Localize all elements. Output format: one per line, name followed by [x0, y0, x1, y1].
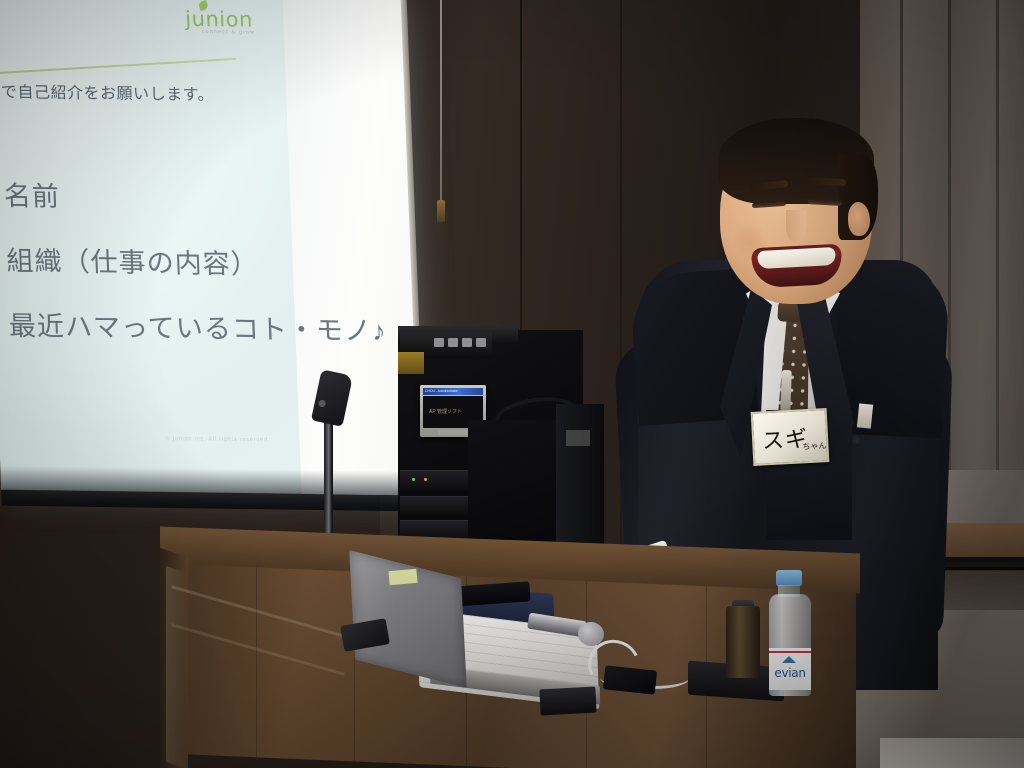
speaker-nose	[786, 210, 806, 242]
speaker-teeth	[757, 247, 836, 269]
rack-side-label	[566, 430, 590, 446]
slide-bullet-item: 組織（仕事の内容）	[6, 239, 348, 283]
slide-bullet-item: 名前	[3, 174, 345, 218]
speaker-ear	[848, 202, 870, 236]
label-red-line	[769, 651, 811, 653]
photo-canvas: junion connect & grow 介 ブ内で自己紹介をお願いします。 …	[0, 0, 1024, 768]
mountain-icon	[782, 656, 796, 663]
monitor-titlebar-text: CHOU - Administrator	[425, 388, 458, 395]
monitor-stand	[438, 430, 468, 435]
suit-button	[852, 436, 860, 444]
monitor-titlebar: CHOU - Administrator	[423, 388, 483, 395]
hanging-cord	[440, 0, 442, 205]
sticky-note	[388, 569, 417, 585]
name-badge-clip	[780, 370, 792, 414]
amp-button[interactable]	[434, 338, 444, 347]
rack-status-led	[412, 478, 415, 481]
monitor-screen-text: AP 管理ソフト	[429, 408, 462, 415]
projection-screen: junion connect & grow 介 ブ内で自己紹介をお願いします。 …	[0, 0, 422, 515]
bottle-cap	[776, 570, 802, 586]
logo-tagline: connect & grow	[202, 29, 256, 36]
podium-edge-highlight	[166, 566, 186, 768]
amp-button[interactable]	[462, 338, 472, 347]
bottle-brand-text: evian	[769, 666, 811, 680]
amp-button[interactable]	[476, 338, 486, 347]
screen-bottom-shadow	[0, 466, 426, 512]
slide-copyright: © junion inc. All rights reserved.	[165, 436, 270, 443]
slide-bullet-list: 名前 組織（仕事の内容） 最近ハマっているコト・モノ♪	[0, 174, 351, 374]
slide-bullet-item: 最近ハマっているコト・モノ♪	[8, 304, 350, 348]
name-badge-suffix: ちゃん	[802, 440, 827, 452]
slide-divider-rule	[0, 58, 236, 76]
rack-yellow-device	[398, 352, 424, 374]
wood-grain	[256, 567, 257, 757]
rack-status-led	[424, 478, 427, 481]
presentation-slide: junion connect & grow 介 ブ内で自己紹介をお願いします。 …	[0, 0, 308, 494]
name-badge: スギ ちゃん	[751, 408, 830, 466]
evian-water-bottle: evian	[766, 570, 814, 696]
floor-strip	[880, 738, 1024, 768]
slide-subtitle: ブ内で自己紹介をお願いします。	[0, 78, 214, 105]
logo-wordmark: junion	[185, 7, 253, 32]
pocket-square	[857, 403, 873, 428]
cord-weight	[437, 200, 445, 222]
bottle-label: evian	[769, 648, 811, 690]
amp-button[interactable]	[448, 338, 458, 347]
power-adapter	[539, 687, 596, 716]
junion-logo: junion connect & grow	[178, 0, 276, 44]
energy-drink-bottle	[726, 606, 760, 678]
